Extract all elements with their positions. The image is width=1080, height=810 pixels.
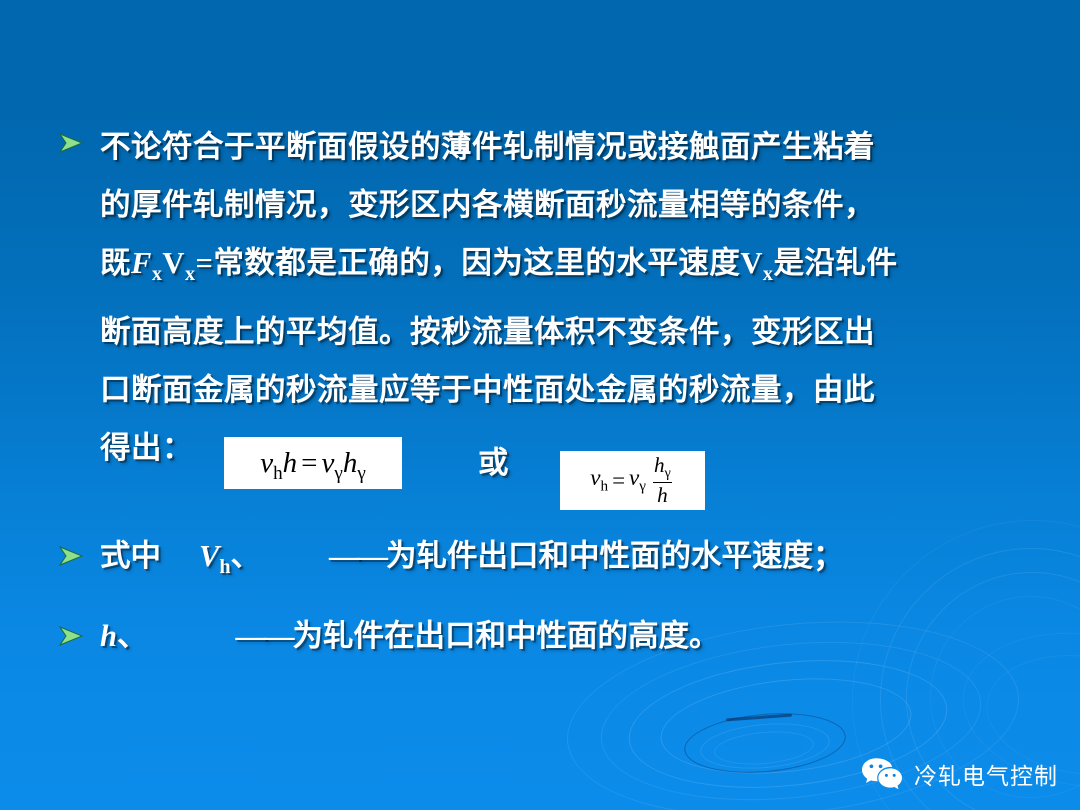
definition-line-1: 式中Vh、——为轧件出口和中性面的水平速度； vγ — [58, 528, 1048, 584]
watermark: 冷轧电气控制 — [860, 756, 1058, 792]
definition-2-separator: 、 — [117, 619, 148, 653]
formula-2-rhs-v: vγ — [629, 465, 646, 496]
paragraph-line-2: 的厚件轧制情况，变形区内各横断面秒流量相等的条件， — [100, 188, 875, 222]
formula-1-rhs: vγhγ — [322, 447, 366, 479]
formula-box-2: vh = vγ hγ h — [560, 451, 705, 510]
definition-1-var: Vh — [199, 539, 231, 573]
fraction-denominator: h — [653, 482, 672, 506]
paragraph-text: 不论符合于平断面假设的薄件轧制情况或接触面产生粘着的厚件轧制情况，变形区内各横断… — [58, 118, 1048, 477]
definition-2-text: h、——为轧件在出口和中性面的高度。 — [100, 608, 719, 664]
formula-2-lhs: vh — [590, 465, 608, 496]
definition-1-description: 为轧件出口和中性面的水平速度； — [386, 539, 844, 573]
wechat-icon — [860, 756, 904, 792]
definition-1-separator: 、 — [231, 539, 262, 573]
slide-content: 不论符合于平断面假设的薄件轧制情况或接触面产生粘着的厚件轧制情况，变形区内各横断… — [0, 0, 1080, 810]
formula-box-1: vhh=vγhγ — [224, 437, 402, 489]
formula-1-lhs: vhh — [260, 447, 297, 479]
formula-var-V: Vx — [162, 246, 195, 280]
formula-1-equals: = — [297, 447, 321, 479]
paragraph-line-1: 不论符合于平断面假设的薄件轧制情况或接触面产生粘着 — [100, 130, 875, 164]
definition-1-dash: —— — [329, 528, 386, 584]
definition-1-prefix: 式中 — [100, 539, 161, 573]
paragraph-line-4: 断面高度上的平均值。按秒流量体积不变条件，变形区出 — [100, 315, 875, 349]
arrow-bullet-icon — [58, 625, 84, 647]
watermark-label: 冷轧电气控制 — [914, 757, 1058, 791]
arrow-bullet-icon — [58, 132, 84, 154]
paragraph-line-3: 既FxVx=常数都是正确的，因为这里的水平速度Vx是沿轧件 — [100, 246, 897, 280]
arrow-bullet-icon — [58, 545, 84, 567]
connector-or-label: 或 — [478, 437, 509, 489]
definition-2-dash: —— — [235, 608, 292, 664]
paragraph-block: 不论符合于平断面假设的薄件轧制情况或接触面产生粘着的厚件轧制情况，变形区内各横断… — [58, 118, 1048, 477]
formula-var-F: Fx — [131, 246, 162, 280]
slide-canvas: 不论符合于平断面假设的薄件轧制情况或接触面产生粘着的厚件轧制情况，变形区内各横断… — [0, 0, 1080, 810]
paragraph-line-6: 得出： — [100, 431, 193, 465]
formula-2-fraction: hγ h — [650, 455, 675, 506]
fraction-numerator: hγ — [650, 455, 675, 482]
definition-line-2: h、——为轧件在出口和中性面的高度。 hγ — [58, 608, 1048, 664]
definition-2-prefix: h — [100, 619, 117, 653]
definition-2-description: 为轧件在出口和中性面的高度。 — [292, 619, 719, 653]
paragraph-line-5: 口断面金属的秒流量应等于中性面处金属的秒流量，由此 — [100, 373, 875, 407]
definition-1-text: 式中Vh、——为轧件出口和中性面的水平速度； — [100, 528, 844, 584]
formula-2-equals: = — [612, 468, 625, 494]
